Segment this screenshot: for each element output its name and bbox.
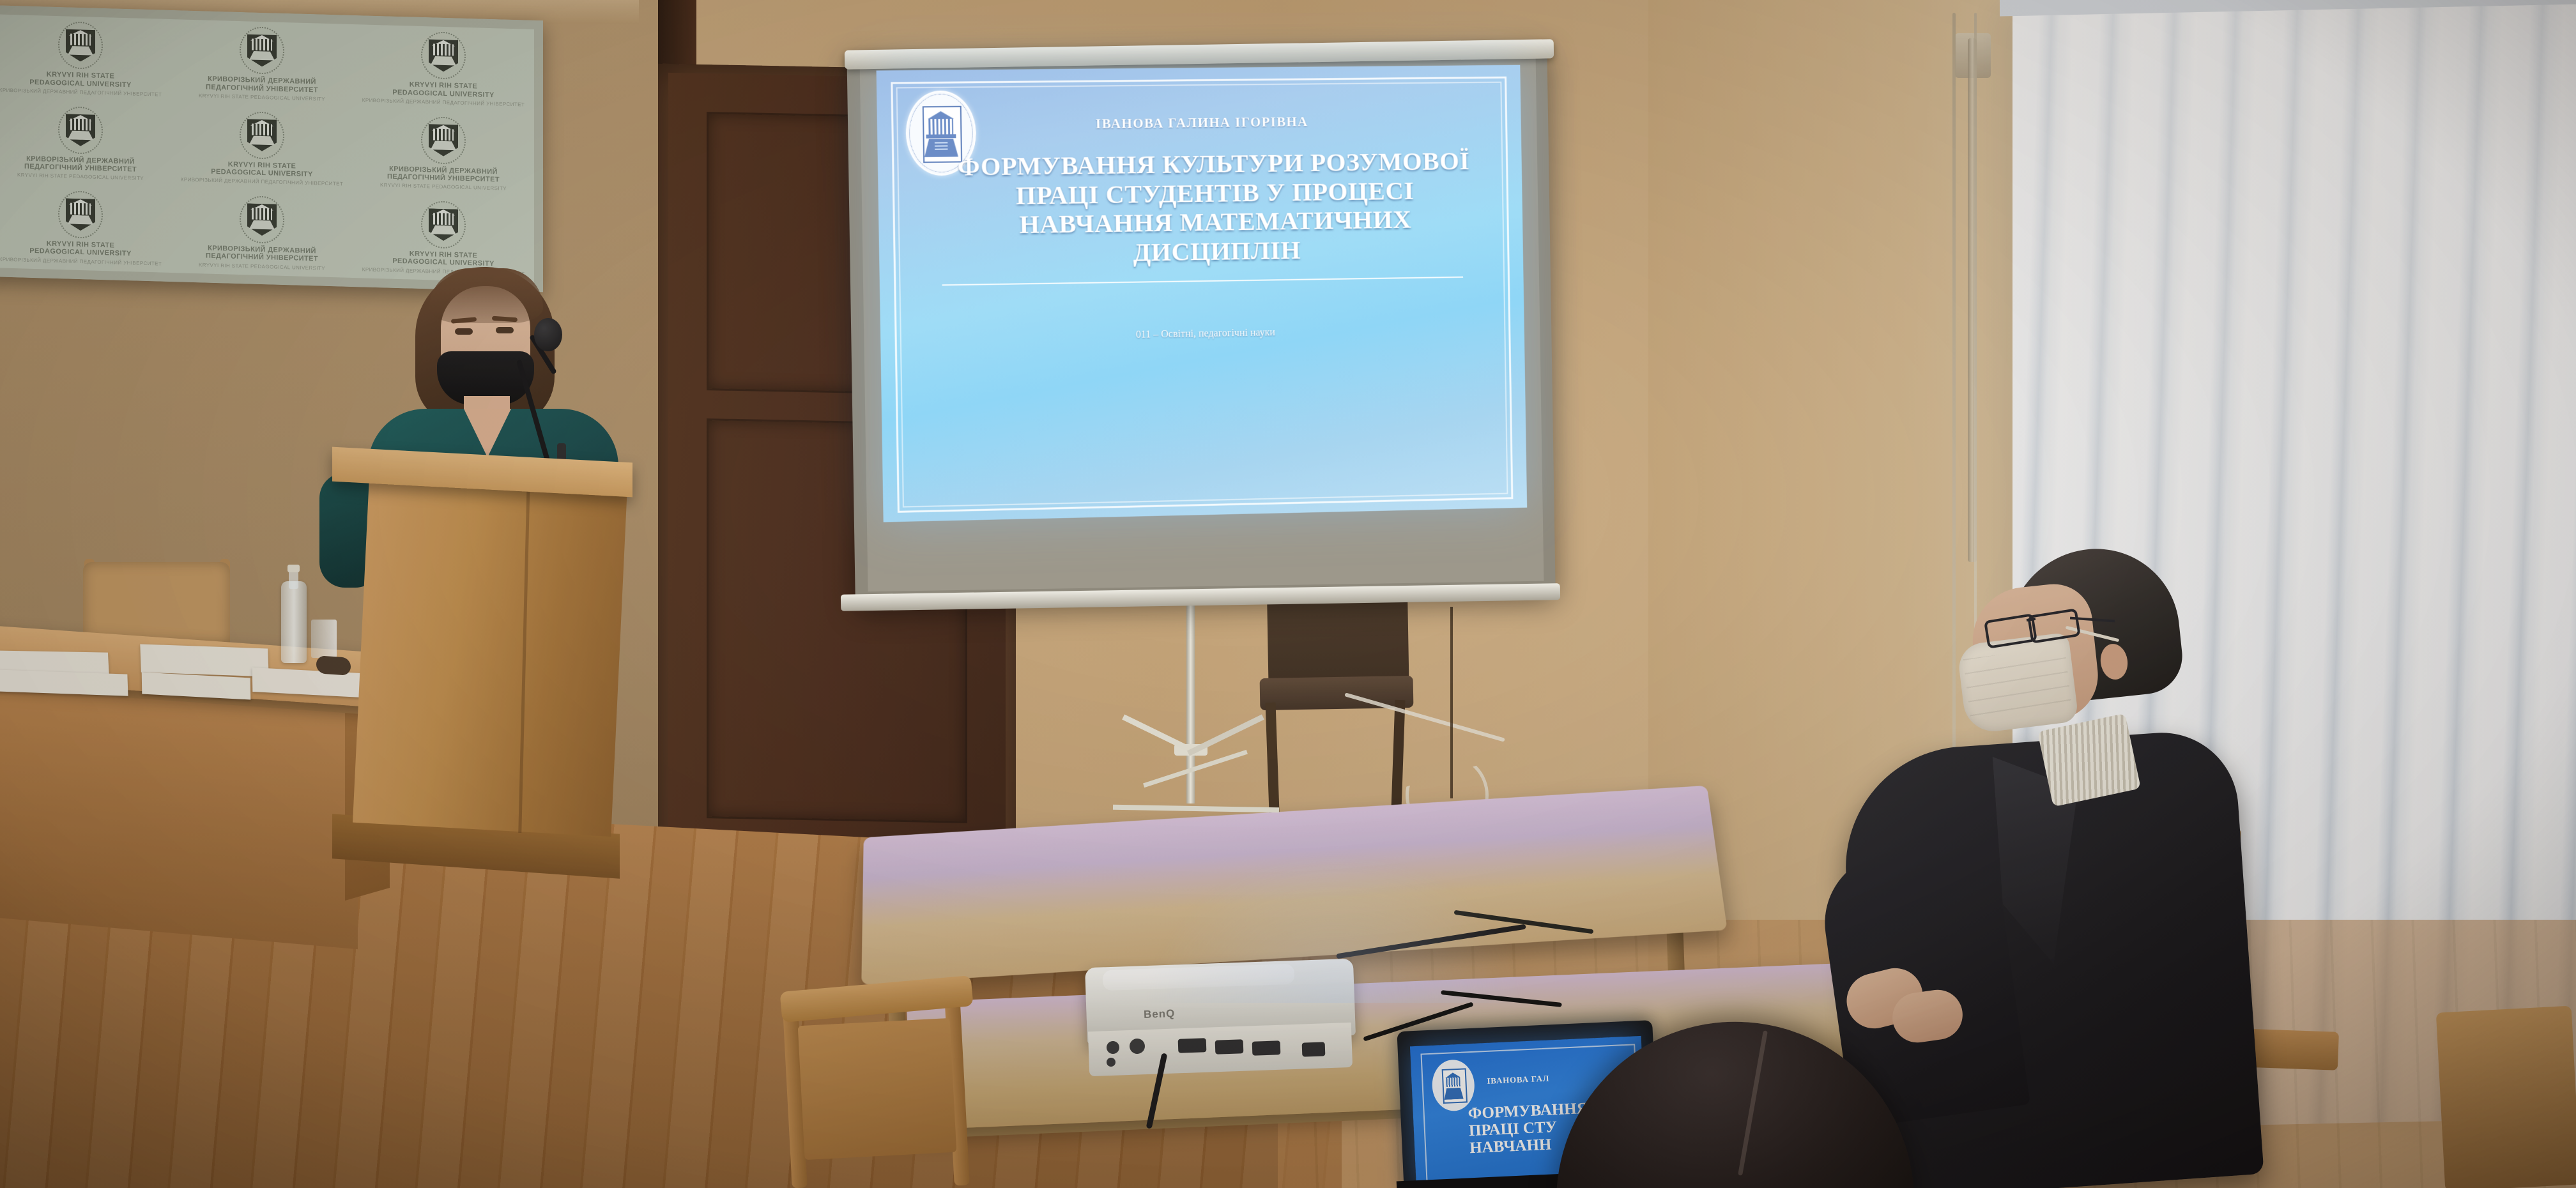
- projector-vga-port[interactable]: [1178, 1038, 1207, 1053]
- water-bottle-cap: [287, 565, 300, 572]
- water-bottle[interactable]: [281, 581, 307, 663]
- screen-pull-cord[interactable]: [1450, 607, 1453, 798]
- gooseneck-microphone-icon[interactable]: [534, 318, 562, 351]
- desk-front-panel: [0, 680, 358, 949]
- slide-title: ФОРМУВАННЯ КУЛЬТУРИ РОЗУМОВОЇ ПРАЦІ СТУД…: [940, 146, 1488, 270]
- blinds-cord[interactable]: [1952, 13, 1956, 805]
- presenter-fringe: [429, 268, 543, 323]
- podium[interactable]: [353, 479, 627, 837]
- paper-sheet[interactable]: [0, 669, 128, 696]
- presenter-eye: [455, 328, 473, 335]
- drinking-glass[interactable]: [311, 620, 337, 658]
- chair-far-right[interactable]: [2436, 1006, 2576, 1188]
- room-photo-scene: KRYVYI RIH STATE PEDAGOGICAL UNIVERSITY …: [0, 0, 2576, 1188]
- blinds-cord-secondary[interactable]: [1974, 13, 1977, 690]
- projector-hdmi-port[interactable]: [1302, 1042, 1326, 1056]
- slide-inner-border: [896, 82, 1508, 508]
- projector-brand-label: BenQ: [1144, 1007, 1176, 1021]
- university-backdrop-banner: KRYVYI RIH STATE PEDAGOGICAL UNIVERSITY …: [0, 5, 543, 293]
- projector-vga-port[interactable]: [1215, 1039, 1244, 1055]
- screen-tripod-pole: [1186, 605, 1195, 803]
- desk-object-dark[interactable]: [316, 655, 351, 676]
- projected-slide: ІВАНОВА ГАЛИНА ІГОРІВНА ФОРМУВАННЯ КУЛЬТ…: [877, 65, 1528, 522]
- paper-sheet[interactable]: [140, 644, 268, 676]
- presenter-eye: [496, 327, 514, 333]
- chair-backrest[interactable]: [83, 562, 230, 645]
- chair-back-panel: [798, 1018, 957, 1160]
- face-mask-pleats: [1963, 647, 2073, 720]
- projector-vga-port[interactable]: [1252, 1040, 1281, 1056]
- banner-frame: [0, 5, 543, 293]
